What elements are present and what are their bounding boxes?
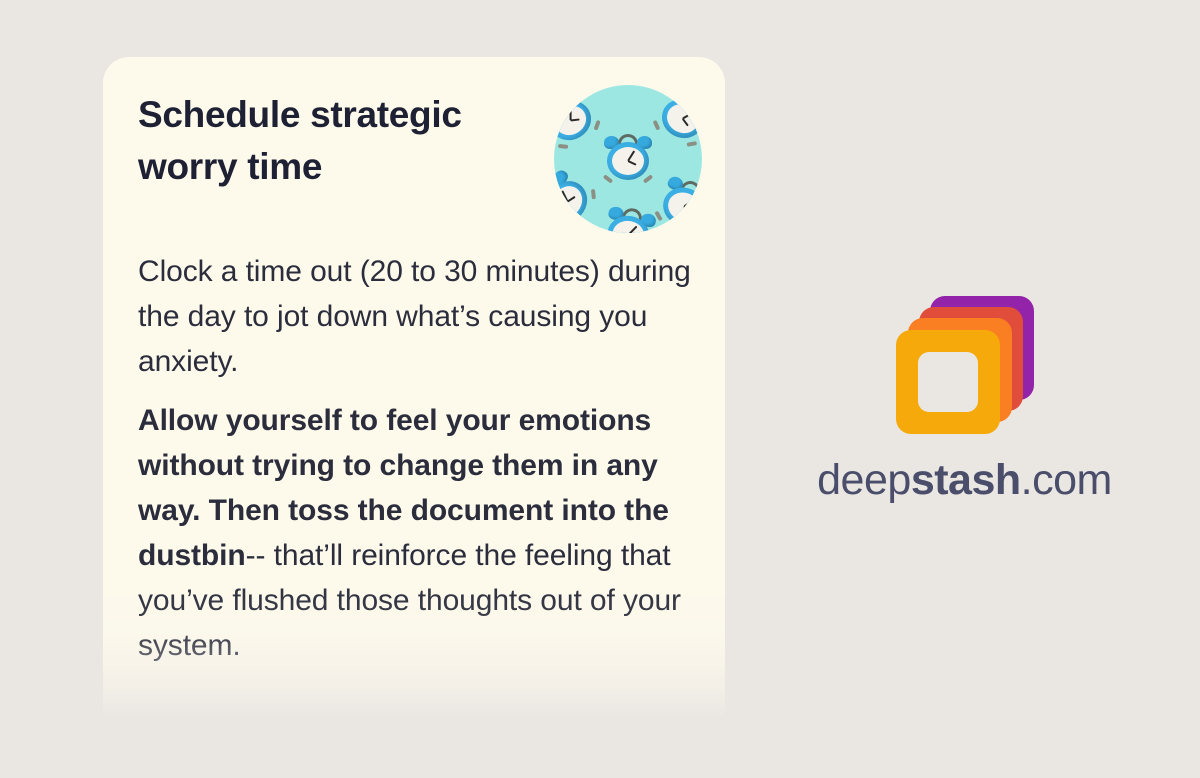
card-header: Schedule strategic worry time [138, 85, 691, 235]
alarm-clock-icon [655, 174, 702, 233]
clock-body-icon [607, 142, 649, 180]
clock-foot-icon [567, 224, 578, 231]
clock-hour-hand-icon [628, 161, 637, 167]
clock-minute-hand-icon [627, 151, 635, 162]
deepstash-stacked-squares-logo[interactable] [896, 296, 1034, 434]
clock-face-icon [610, 218, 647, 233]
clock-hour-hand-icon [683, 207, 691, 215]
logo-center-cutout [918, 352, 978, 412]
clock-hour-hand-icon [567, 196, 576, 203]
card-inner: Schedule strategic worry time [103, 57, 725, 719]
clock-body-icon [554, 174, 595, 230]
card-paragraph-highlight: Allow yourself to feel your emotions wit… [138, 398, 691, 668]
clock-minute-hand-icon [562, 191, 569, 203]
clock-foot-icon [653, 120, 661, 131]
wordmark-tld: .com [1021, 456, 1112, 504]
alarm-clock-icon [605, 135, 651, 181]
clock-minute-hand-icon [682, 112, 693, 120]
card-paragraph-intro: Clock a time out (20 to 30 minutes) duri… [138, 249, 691, 384]
clock-foot-icon [687, 141, 698, 147]
card-body: Clock a time out (20 to 30 minutes) duri… [138, 249, 691, 668]
page-title: Schedule strategic worry time [138, 85, 530, 193]
wordmark-stash: stash [911, 456, 1021, 504]
alarm-clock-icon [554, 168, 597, 231]
clock-minute-hand-icon [570, 109, 572, 121]
clock-minute-hand-icon [683, 199, 694, 208]
alarm-clock-icon [602, 205, 657, 233]
clock-face-icon [612, 147, 644, 175]
clock-hour-hand-icon [571, 119, 580, 122]
clock-face-icon [664, 188, 702, 226]
brand-wordmark: deepstash.com [812, 456, 1117, 505]
clock-foot-icon [690, 228, 701, 233]
clock-face-icon [554, 100, 592, 141]
clock-foot-icon [591, 189, 596, 199]
wordmark-deep: deep [817, 456, 911, 504]
alarm-clock-icon [554, 86, 601, 149]
alarm-clock-pattern-image [554, 85, 702, 233]
clock-face-icon [554, 181, 588, 223]
clock-hour-hand-icon [682, 118, 689, 126]
share-card[interactable]: Schedule strategic worry time [103, 57, 725, 719]
clock-foot-icon [593, 120, 600, 131]
clock-foot-icon [558, 144, 568, 149]
brand-block: deepstash.com [812, 296, 1117, 505]
clock-foot-icon [603, 174, 613, 183]
clock-minute-hand-icon [628, 226, 638, 233]
clock-face-icon [662, 99, 702, 139]
alarm-clock-icon [653, 85, 702, 147]
clock-foot-icon [643, 174, 653, 183]
